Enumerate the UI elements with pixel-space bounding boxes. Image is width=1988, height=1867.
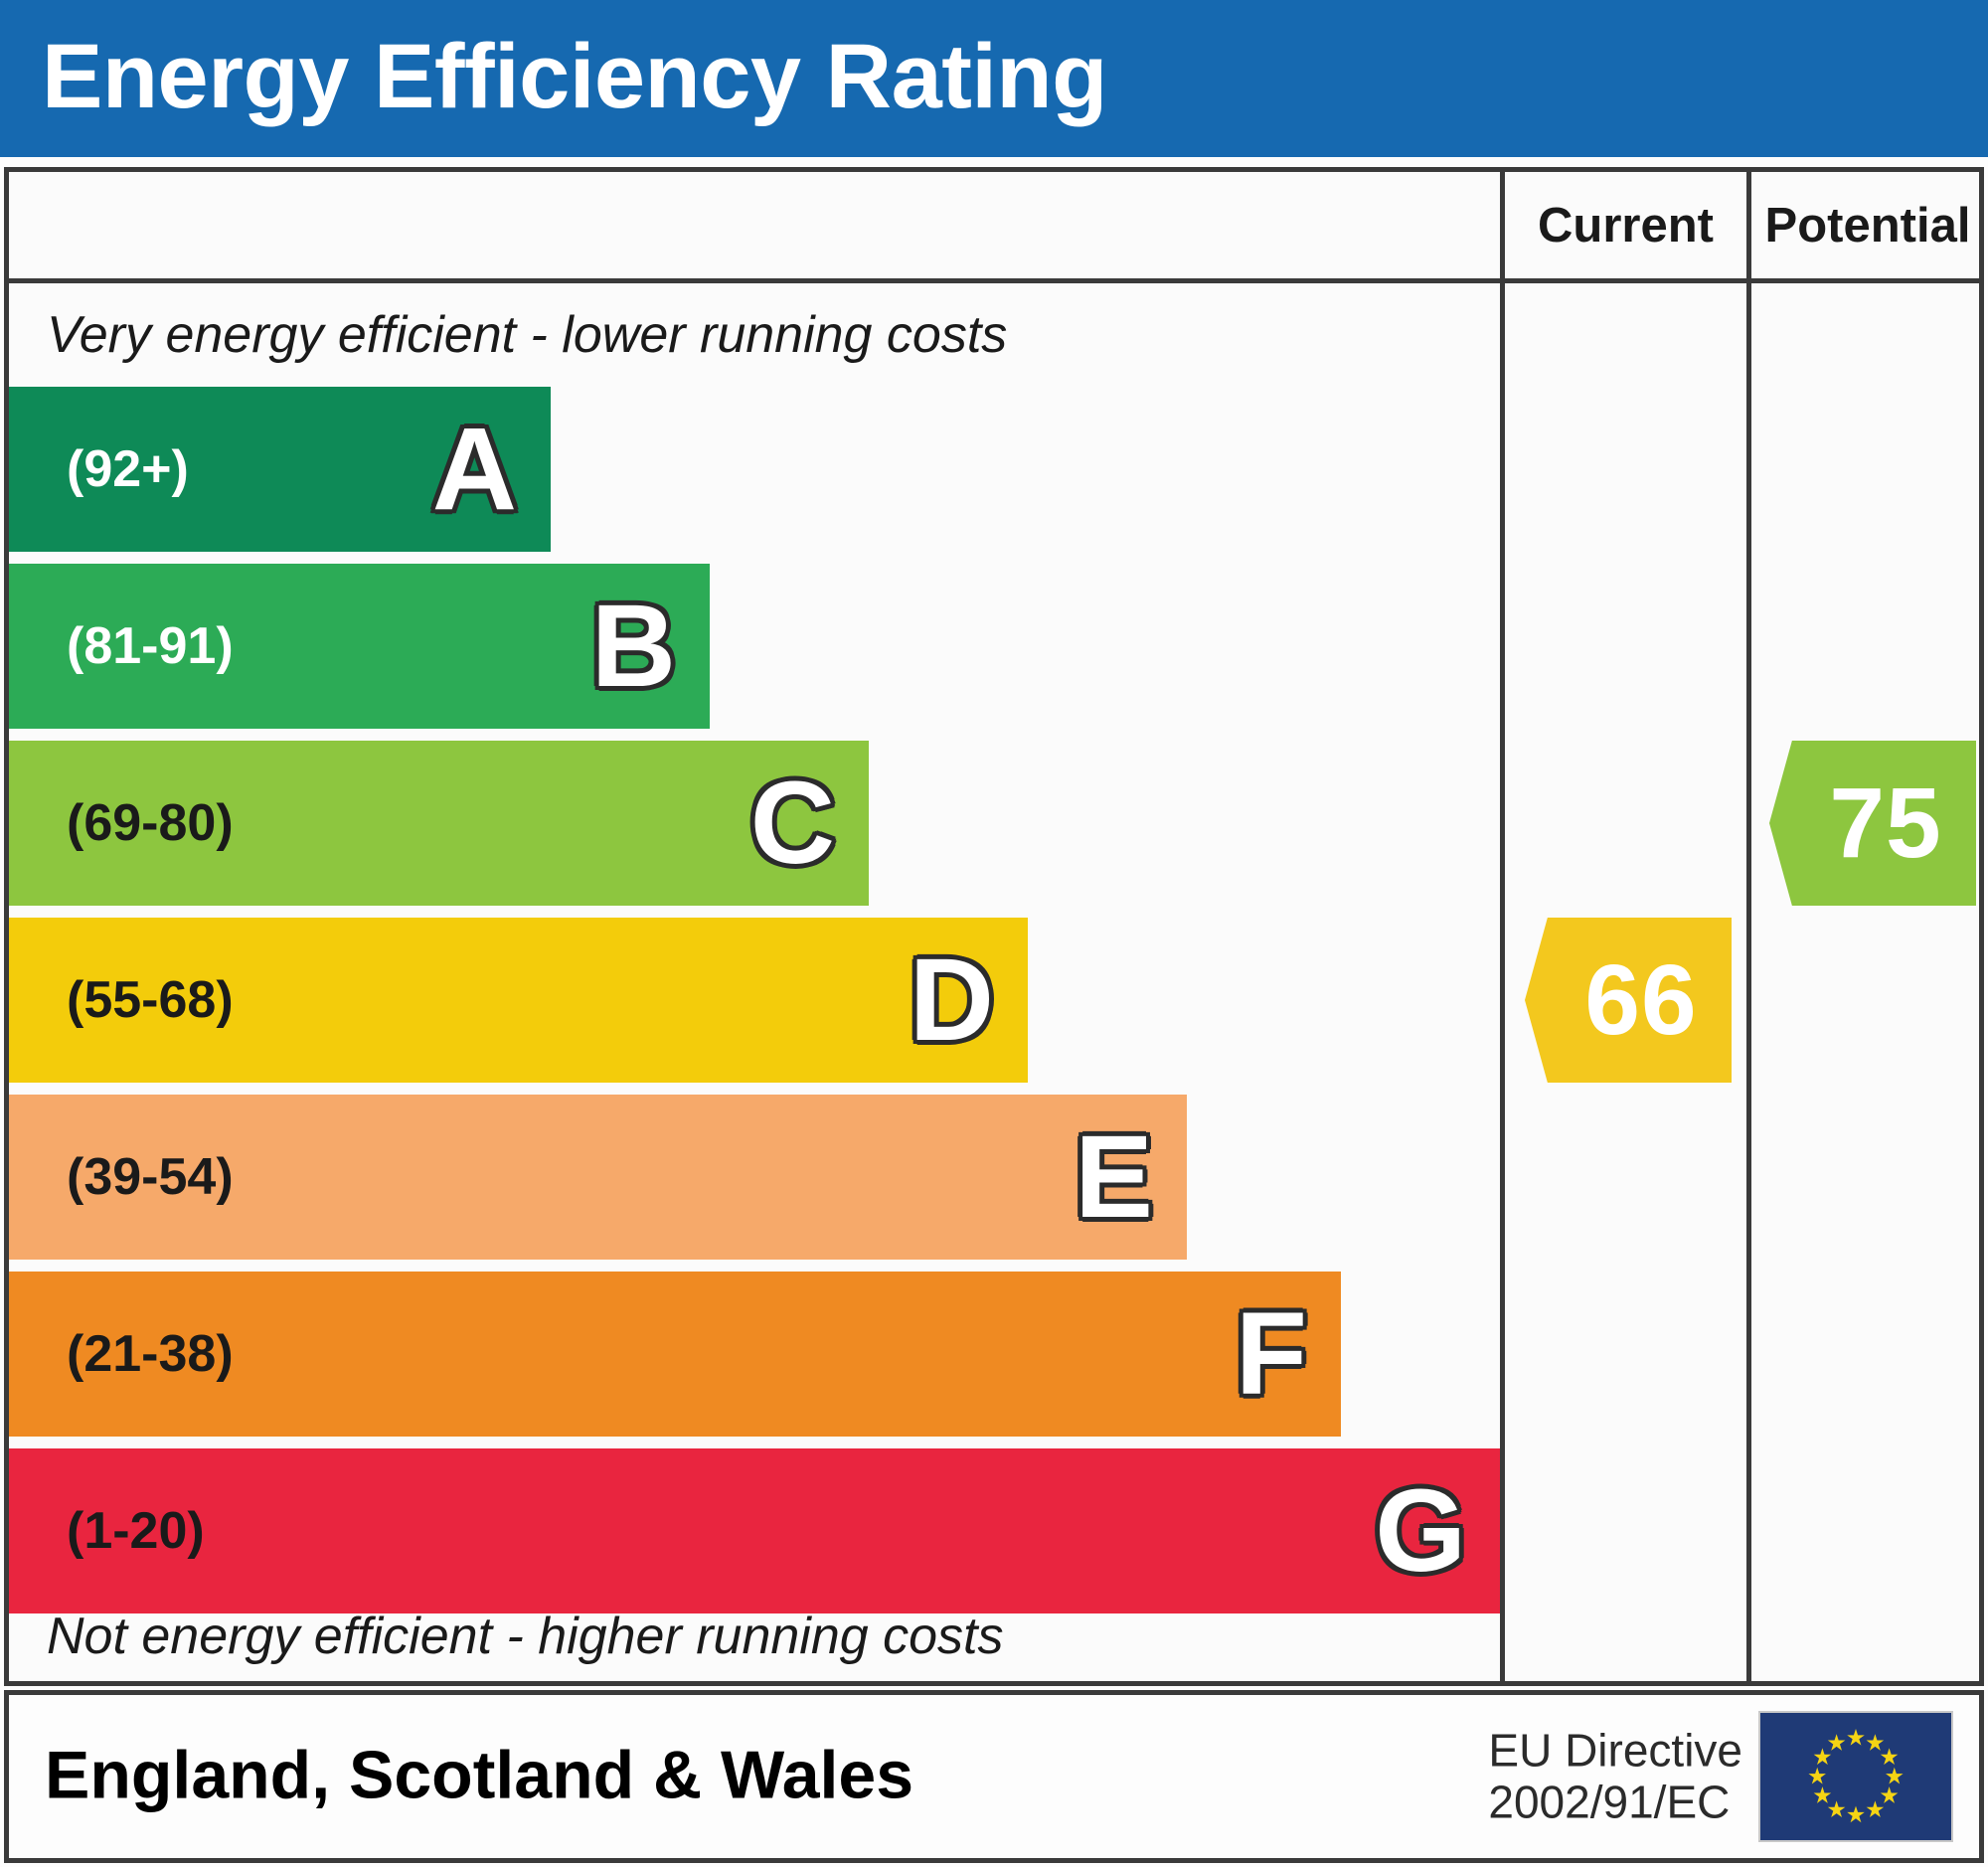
band-range-label: (55-68) — [67, 974, 234, 1026]
eu-directive-line-1: EU Directive — [1488, 1725, 1742, 1777]
band-f: (21-38)F — [9, 1272, 1341, 1437]
band-range-label: (81-91) — [67, 620, 234, 672]
band-g: (1-20)G — [9, 1448, 1500, 1613]
band-a: (92+)A — [9, 387, 551, 552]
band-letter-e: E — [1075, 1118, 1153, 1236]
band-range-label: (39-54) — [67, 1151, 234, 1203]
eu-directive-label: EU Directive 2002/91/EC — [1488, 1725, 1742, 1827]
current-rating-badge: 66 — [1525, 918, 1732, 1083]
band-range-label: (21-38) — [67, 1328, 234, 1380]
page-title: Energy Efficiency Rating — [42, 31, 1107, 122]
band-letter-c: C — [750, 764, 835, 882]
band-letter-d: D — [910, 941, 994, 1059]
table-header-row: Current Potential — [9, 172, 1979, 283]
potential-rating-column: 75 — [1751, 283, 1984, 1686]
rating-table: Current Potential Very energy efficient … — [4, 167, 1984, 1686]
band-range-label: (1-20) — [67, 1505, 205, 1557]
band-letter-b: B — [591, 588, 676, 705]
caption-not-efficient: Not energy efficient - higher running co… — [47, 1611, 1004, 1662]
eu-directive-line-2: 2002/91/EC — [1488, 1777, 1742, 1828]
title-bar: Energy Efficiency Rating — [0, 0, 1988, 157]
footer: England, Scotland & Wales EU Directive 2… — [4, 1690, 1984, 1863]
potential-rating-badge: 75 — [1769, 741, 1976, 906]
column-header-current: Current — [1500, 172, 1746, 278]
energy-efficiency-certificate: Energy Efficiency Rating Current Potenti… — [0, 0, 1988, 1867]
potential-rating-value: 75 — [1803, 773, 1941, 873]
band-range-label: (92+) — [67, 443, 189, 495]
band-b: (81-91)B — [9, 564, 710, 729]
band-letter-a: A — [432, 411, 517, 528]
caption-very-efficient: Very energy efficient - lower running co… — [47, 309, 1007, 361]
band-letter-g: G — [1375, 1472, 1466, 1590]
band-d: (55-68)D — [9, 918, 1028, 1083]
eu-flag-icon — [1758, 1711, 1953, 1842]
eu-flag-stars — [1760, 1713, 1951, 1840]
region-label: England, Scotland & Wales — [45, 1742, 913, 1809]
band-e: (39-54)E — [9, 1095, 1187, 1260]
efficiency-band-chart: Very energy efficient - lower running co… — [9, 283, 1500, 1686]
current-rating-column: 66 — [1505, 283, 1746, 1686]
current-rating-value: 66 — [1559, 950, 1697, 1050]
column-header-potential: Potential — [1746, 172, 1984, 278]
band-letter-f: F — [1236, 1295, 1307, 1413]
band-c: (69-80)C — [9, 741, 869, 906]
band-range-label: (69-80) — [67, 797, 234, 849]
